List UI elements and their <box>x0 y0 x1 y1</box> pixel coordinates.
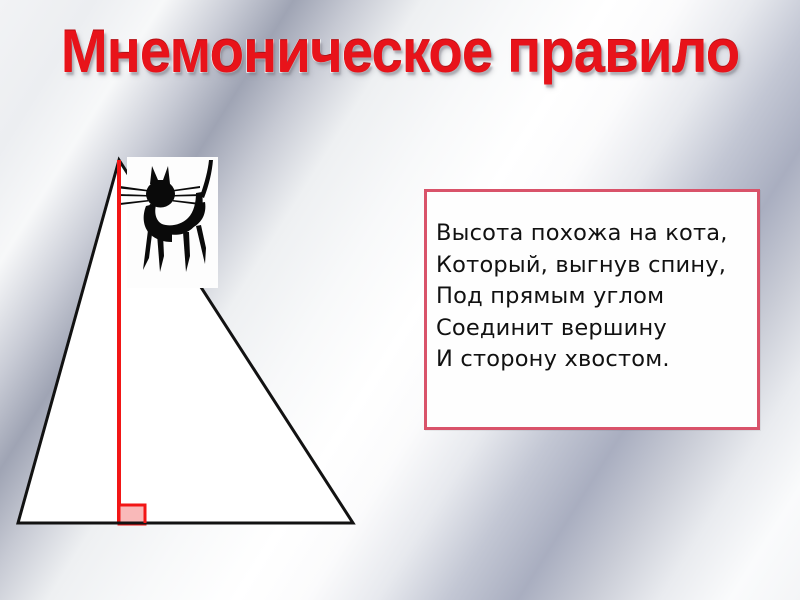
geometry-figure <box>0 130 400 560</box>
triangle-diagram-svg <box>0 130 400 560</box>
poem-line: И сторону хвостом. <box>436 344 751 376</box>
poem-line: Соединит вершину <box>436 313 751 345</box>
poem-line: Высота похожа на кота, <box>436 218 751 250</box>
poem-line: Под прямым углом <box>436 281 751 313</box>
slide-canvas: Мнемоническое правило <box>0 0 800 600</box>
mnemonic-text-box: Высота похожа на кота, Который, выгнув с… <box>424 189 760 430</box>
poem-line: Который, выгнув спину, <box>436 250 751 282</box>
poem-lines: Высота похожа на кота, Который, выгнув с… <box>436 218 751 376</box>
cat-image-backdrop <box>127 157 218 288</box>
right-angle-marker <box>119 505 145 524</box>
page-title: Мнемоническое правило <box>24 22 776 82</box>
